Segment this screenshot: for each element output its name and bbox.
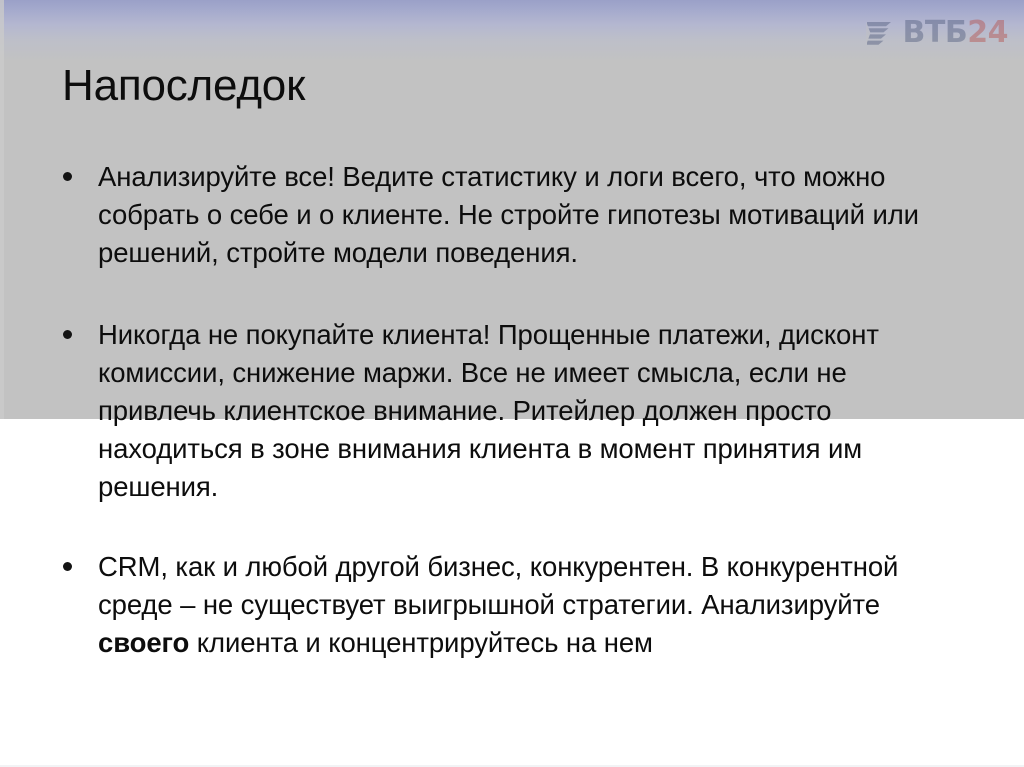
bullet-list: Анализируйте все! Ведите статистику и ло… — [55, 158, 960, 662]
list-item: CRM, как и любой другой бизнес, конкурен… — [55, 548, 960, 662]
vtb24-wordmark-primary: ВТБ — [903, 15, 968, 50]
bullet-marker-icon — [63, 172, 72, 181]
list-item-text: CRM, как и любой другой бизнес, конкурен… — [98, 548, 960, 662]
list-item-text: Анализируйте все! Ведите статистику и ло… — [98, 158, 960, 272]
vtb24-logo: ВТБ24 — [865, 18, 1008, 48]
list-item: Анализируйте все! Ведите статистику и ло… — [55, 158, 960, 272]
list-item: Никогда не покупайте клиента! Прощенные … — [55, 316, 960, 506]
bullet-marker-icon — [63, 562, 72, 571]
vtb24-wordmark-accent: 24 — [967, 15, 1008, 50]
list-item-text: Никогда не покупайте клиента! Прощенные … — [98, 316, 960, 506]
vtb24-wordmark: ВТБ24 — [903, 18, 1008, 48]
bullet-marker-icon — [63, 330, 72, 339]
page-title: Напоследок — [62, 63, 305, 109]
vtb-wing-mark-icon — [865, 20, 895, 46]
presentation-slide: ВТБ24 Напоследок Анализируйте все! Ведит… — [0, 0, 1024, 767]
slide-left-edge-strip — [0, 0, 4, 419]
